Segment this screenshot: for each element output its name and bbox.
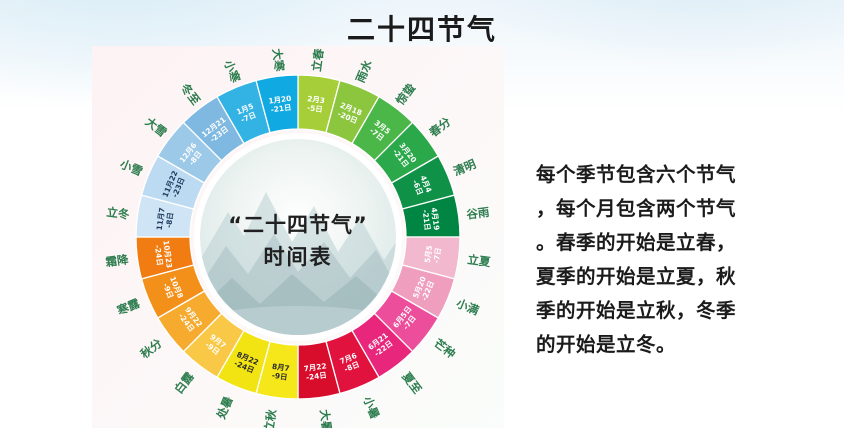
solar-term-label: 谷雨 xyxy=(466,205,491,222)
description-line: 。春季的开始是立春， xyxy=(536,226,836,260)
description-line: 夏季的开始是立夏，秋 xyxy=(536,260,836,294)
solar-term-label: 寒露 xyxy=(114,296,142,318)
description-line: 的开始是立冬。 xyxy=(536,328,836,362)
solar-term-label: 立秋 xyxy=(262,408,279,428)
solar-terms-donut-chart: 2月3-5日2月18-20日3月5-7日3月20-21日4月4-6日4月19-2… xyxy=(92,46,504,428)
solar-term-label: 秋分 xyxy=(138,336,165,361)
segment-date-label: 4月19-21日 xyxy=(420,207,441,232)
solar-term-label: 霜降 xyxy=(104,252,130,269)
solar-term-label: 立冬 xyxy=(106,205,131,222)
solar-term-label: 小寒 xyxy=(221,57,243,85)
solar-term-label: 小满 xyxy=(453,296,481,318)
segment-date-label: 7月22-24日 xyxy=(303,361,328,382)
solar-term-label: 小暑 xyxy=(360,393,382,421)
description-line: 季的开始是立秋，冬季 xyxy=(536,294,836,328)
description-paragraph: 每个季节包含六个节气，每个月包含两个节气。春季的开始是立春，夏季的开始是立夏，秋… xyxy=(536,158,836,362)
description-line: ，每个月包含两个节气 xyxy=(536,192,836,226)
solar-term-label: 处暑 xyxy=(213,394,235,422)
solar-term-label: 小雪 xyxy=(117,156,145,178)
solar-term-label: 大雪 xyxy=(143,114,170,139)
solar-term-label: 惊蛰 xyxy=(393,80,418,107)
solar-term-label: 清明 xyxy=(451,157,478,179)
solar-term-label: 立春 xyxy=(309,47,326,72)
solar-term-label: 夏至 xyxy=(399,370,424,397)
segment-date-label: 1月20-21日 xyxy=(268,94,293,115)
page-title: 二十四节气 xyxy=(0,8,844,48)
center-title-line1: “二十四节气” xyxy=(228,213,368,237)
solar-term-label: 雨水 xyxy=(353,58,375,85)
solar-term-label: 白露 xyxy=(171,369,196,396)
solar-term-label: 立夏 xyxy=(467,252,492,269)
description-line: 每个季节包含六个节气 xyxy=(536,158,836,192)
solar-terms-wheel: 2月3-5日2月18-20日3月5-7日3月20-21日4月4-6日4月19-2… xyxy=(92,46,504,428)
solar-term-label: 冬至 xyxy=(178,81,203,108)
solar-term-label: 芒种 xyxy=(431,336,458,361)
solar-term-label: 大寒 xyxy=(270,48,287,73)
solar-term-label: 春分 xyxy=(427,114,454,139)
solar-term-label: 大暑 xyxy=(317,409,334,428)
center-title-line2: 时间表 xyxy=(264,245,333,269)
